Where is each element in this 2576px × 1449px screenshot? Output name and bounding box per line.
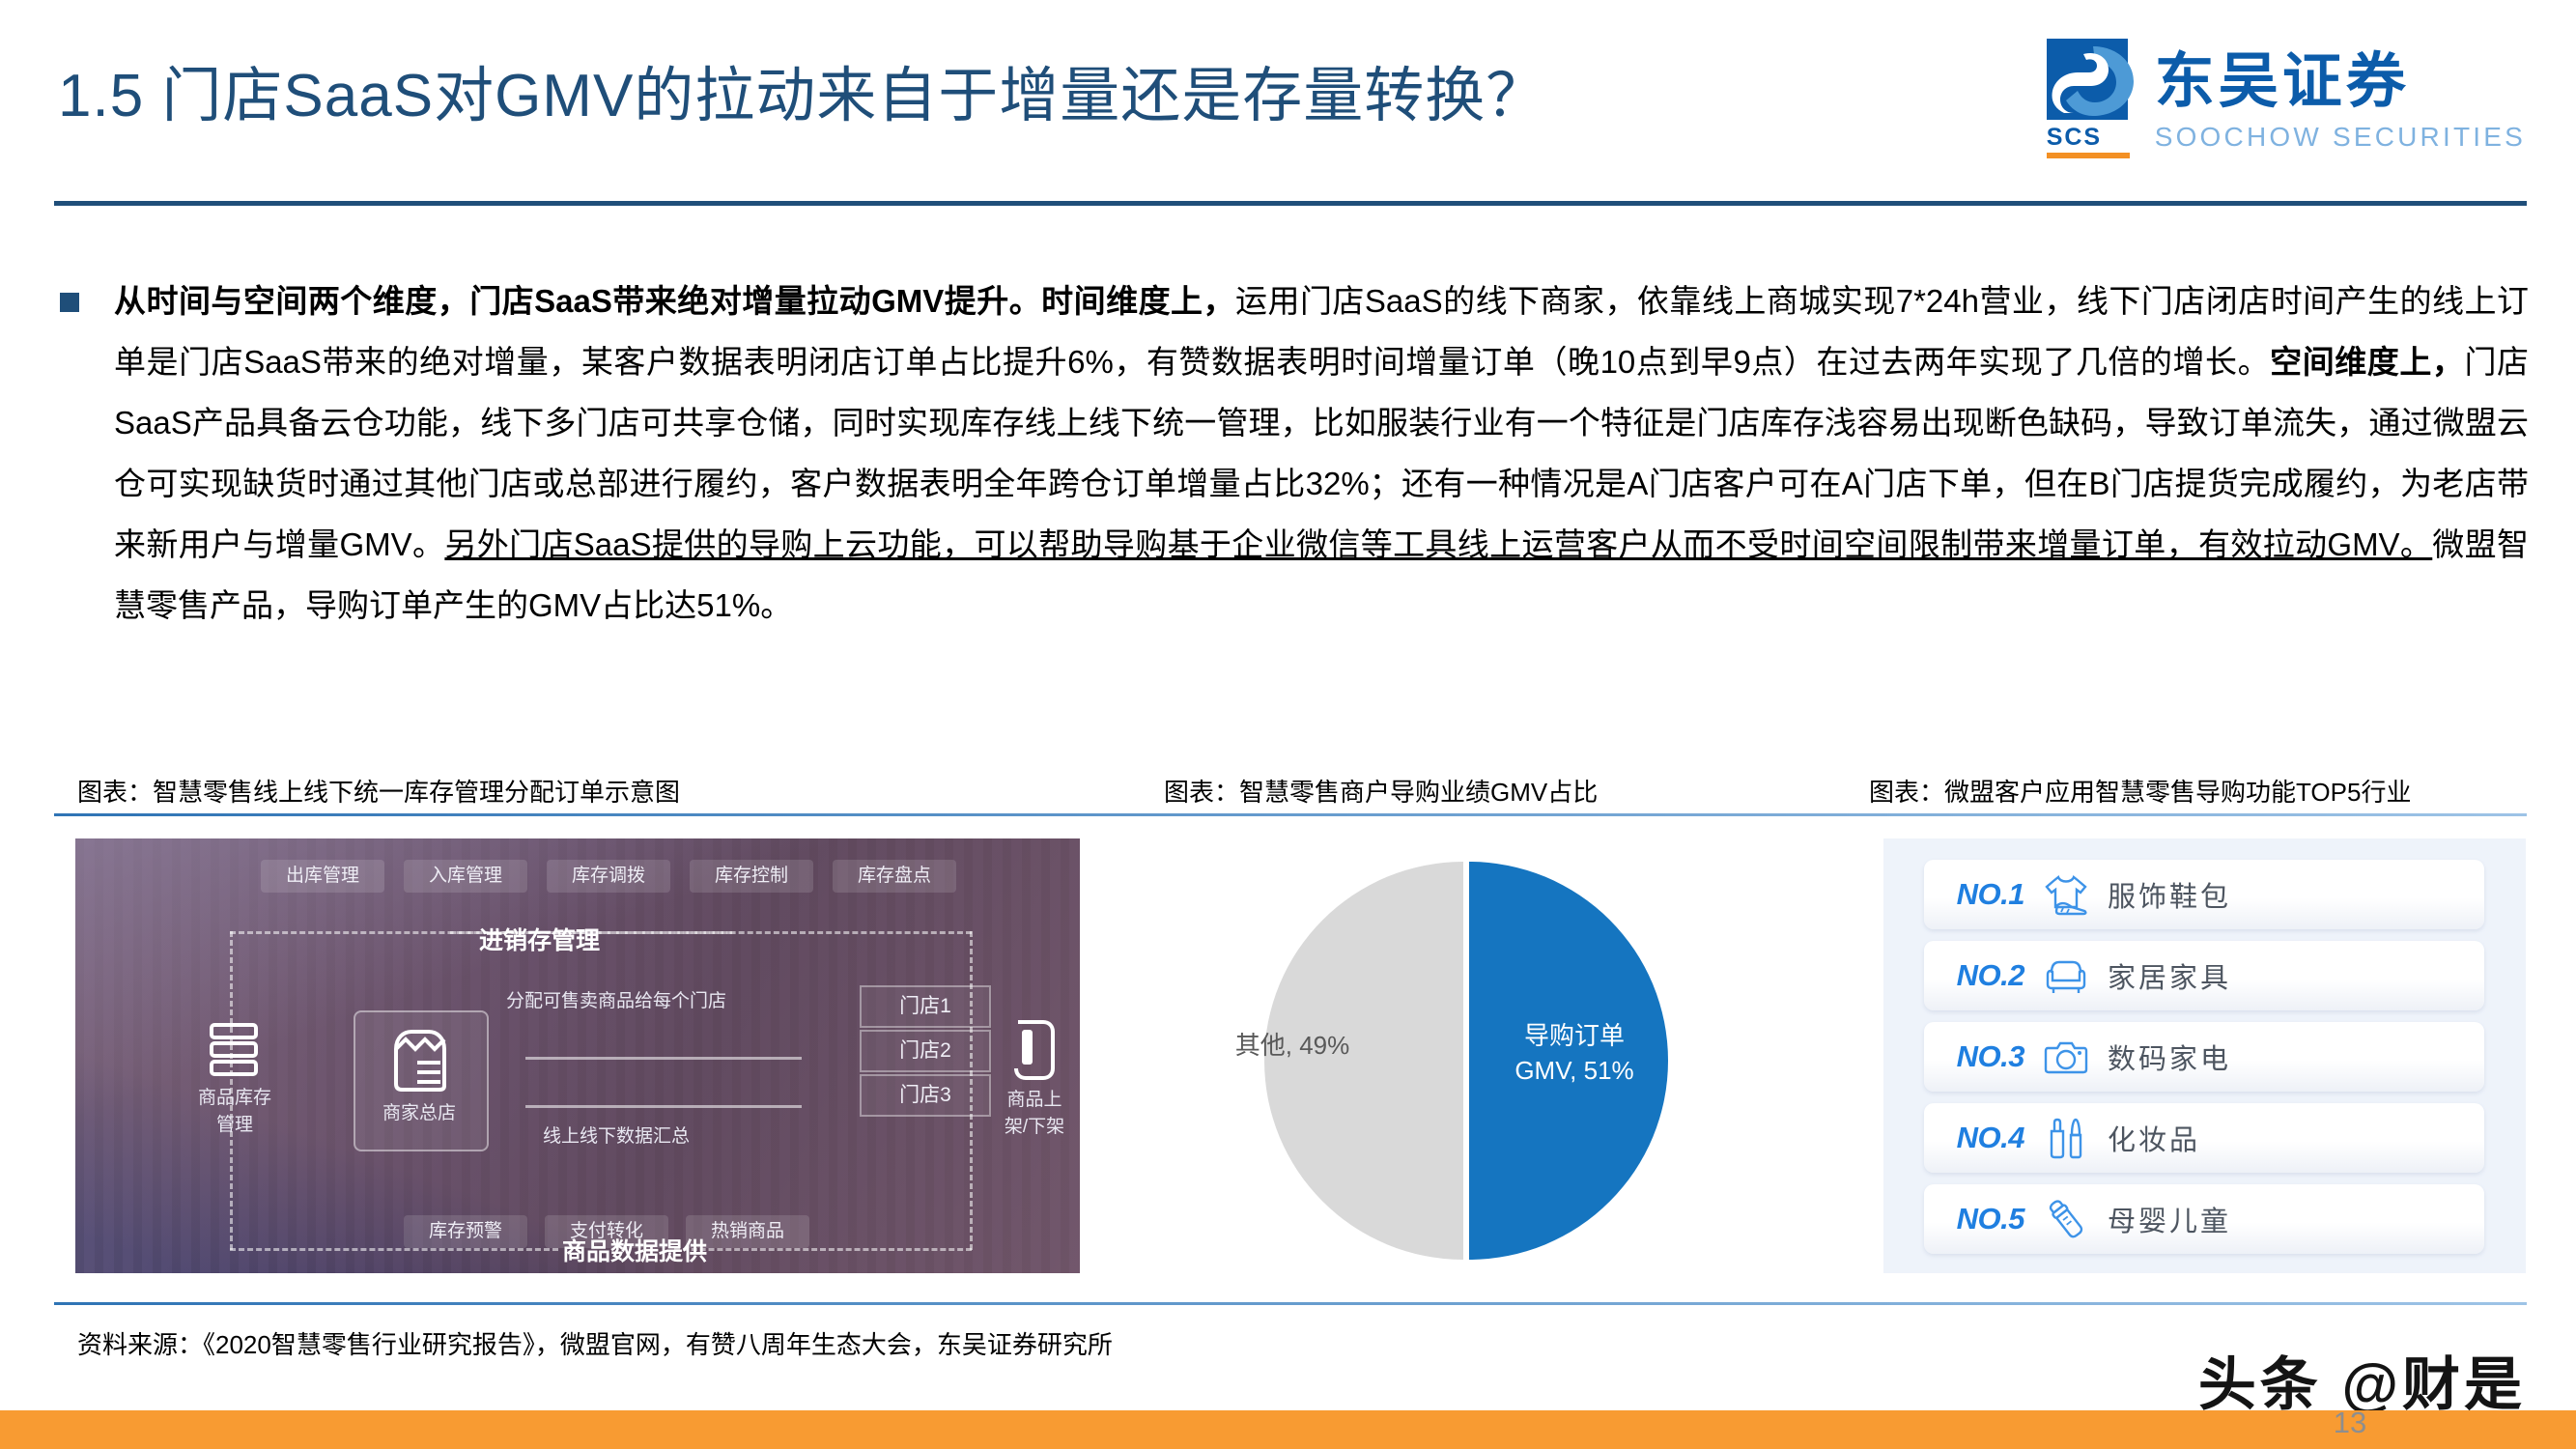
- top5-label-3: 数码家电: [2108, 1037, 2231, 1077]
- diagram-pill-hot-goods: 热销商品: [686, 1215, 809, 1248]
- top5-label-1: 服饰鞋包: [2108, 874, 2231, 915]
- logo-orange-bar: [2047, 153, 2130, 158]
- gmv-pie-chart: 其他, 49% 导购订单 GMV, 51%: [1149, 833, 1864, 1287]
- top5-industries-panel: NO.1 服饰鞋包 NO.2: [1883, 838, 2526, 1273]
- diagram-pill-inbound: 入库管理: [404, 860, 527, 893]
- logo-name-cn: 东吴证券: [2155, 52, 2526, 112]
- top5-row-5: NO.5 母婴儿童: [1924, 1184, 2484, 1254]
- top5-rank-2: NO.2: [1924, 958, 2024, 993]
- top5-rank-4: NO.4: [1924, 1121, 2024, 1155]
- diagram-store-2: 门店2: [860, 1030, 991, 1072]
- logo-wordmark: 东吴证券 SOOCHOW SECURITIES: [2155, 39, 2526, 153]
- pie-label-other: 其他, 49%: [1196, 1028, 1389, 1063]
- inventory-flow-diagram: 出库管理 入库管理 库存调拨 库存控制 库存盘点 进销存管理 商品库存 管理 商…: [75, 838, 1080, 1273]
- diagram-arrow-2: [525, 1105, 802, 1108]
- diagram-right-node-label-2: 架/下架: [981, 1115, 1080, 1140]
- top5-row-3: NO.3 数码家电: [1924, 1022, 2484, 1092]
- diagram-pill-stock-alert: 库存预警: [404, 1215, 527, 1248]
- logo-mark-icon: SCS: [2047, 39, 2139, 162]
- slide-root: 1.5 门店SaaS对GMV的拉动来自于增量还是存量转换？ SCS 东吴证券 S…: [0, 0, 2576, 1449]
- bullet-block: 从时间与空间两个维度，门店SaaS带来绝对增量拉动GMV提升。时间维度上，运用门…: [60, 270, 2529, 636]
- company-logo: SCS 东吴证券 SOOCHOW SECURITIES: [2047, 39, 2526, 164]
- diagram-store-1: 门店1: [860, 985, 991, 1028]
- chart-captions-row: 图表：智慧零售线上线下统一库存管理分配订单示意图 图表：智慧零售商户导购业绩GM…: [0, 773, 2576, 817]
- page-title: 1.5 门店SaaS对GMV的拉动来自于增量还是存量转换？: [58, 46, 1546, 133]
- header-divider: [54, 201, 2527, 206]
- logo-name-en: SOOCHOW SECURITIES: [2155, 122, 2526, 153]
- top5-list: NO.1 服饰鞋包 NO.2: [1924, 860, 2484, 1265]
- diagram-center-title: 进销存管理: [479, 922, 600, 956]
- top5-label-5: 母婴儿童: [2108, 1199, 2231, 1239]
- cosmetics-icon: [2024, 1116, 2108, 1160]
- bullet-square-icon: [60, 293, 79, 312]
- diagram-allocate-label: 分配可售卖商品给每个门店: [462, 989, 771, 1014]
- camera-icon: [2024, 1035, 2108, 1079]
- diagram-pill-pay-conversion: 支付转化: [545, 1215, 668, 1248]
- pie-label-guide: 导购订单 GMV, 51%: [1478, 1018, 1671, 1088]
- body-paragraph: 从时间与空间两个维度，门店SaaS带来绝对增量拉动GMV提升。时间维度上，运用门…: [60, 270, 2529, 636]
- captions-divider: [54, 813, 2527, 816]
- diagram-merchant-label: 商家总店: [354, 1101, 485, 1126]
- slide-header: 1.5 门店SaaS对GMV的拉动来自于增量还是存量转换？ SCS 东吴证券 S…: [0, 0, 2576, 205]
- diagram-dashed-bottom-right: [674, 1248, 972, 1251]
- diagram-arrow-1: [525, 1057, 802, 1060]
- top5-row-2: NO.2 家居家具: [1924, 941, 2484, 1010]
- caption-chart-1: 图表：智慧零售线上线下统一库存管理分配订单示意图: [77, 773, 680, 809]
- top5-label-4: 化妆品: [2108, 1118, 2200, 1158]
- tshirt-shoe-icon: [2024, 872, 2108, 917]
- top5-rank-1: NO.1: [1924, 877, 2024, 912]
- pie-label-guide-line2: GMV, 51%: [1478, 1053, 1671, 1088]
- top5-label-2: 家居家具: [2108, 955, 2231, 996]
- pie-figure: 其他, 49% 导购订单 GMV, 51%: [1256, 848, 1671, 1273]
- top5-row-4: NO.4 化妆品: [1924, 1103, 2484, 1173]
- diagram-right-node-label-1: 商品上: [981, 1088, 1080, 1113]
- stack-icon: [209, 1022, 259, 1078]
- diagram-dashed-bottom-left: [230, 1248, 558, 1251]
- store-doc-icon: [390, 1026, 450, 1094]
- top5-rank-3: NO.3: [1924, 1039, 2024, 1074]
- source-divider: [54, 1302, 2527, 1305]
- diagram-store-3: 门店3: [860, 1074, 991, 1117]
- logo-scs-text: SCS: [2047, 126, 2130, 150]
- diagram-summary-label: 线上线下数据汇总: [462, 1124, 771, 1150]
- pie-label-guide-line1: 导购订单: [1478, 1018, 1671, 1053]
- source-note: 资料来源：《2020智慧零售行业研究报告》，微盟官网，有赞八周年生态大会，东吴证…: [77, 1325, 1113, 1361]
- body-bold-2: 空间维度上，: [2270, 344, 2464, 380]
- top5-row-1: NO.1 服饰鞋包: [1924, 860, 2484, 929]
- diagram-left-node-label-1: 商品库存: [172, 1086, 297, 1111]
- diagram-pill-stocktake: 库存盘点: [833, 860, 956, 893]
- diagram-pill-control: 库存控制: [690, 860, 813, 893]
- logo-swirl-icon: [2049, 41, 2137, 122]
- top5-rank-5: NO.5: [1924, 1202, 2024, 1236]
- diagram-left-node-label-2: 管理: [172, 1113, 297, 1138]
- body-lead-bold: 从时间与空间两个维度，门店SaaS带来绝对增量拉动GMV提升。时间维度上，: [114, 283, 1235, 319]
- footer-bar: [0, 1410, 2576, 1449]
- diagram-pill-transfer: 库存调拨: [547, 860, 670, 893]
- caption-chart-3: 图表：微盟客户应用智慧零售导购功能TOP5行业: [1869, 773, 2411, 809]
- diagram-pill-outbound: 出库管理: [261, 860, 384, 893]
- page-number: 13: [2316, 1406, 2384, 1440]
- caption-chart-2: 图表：智慧零售商户导购业绩GMV占比: [1164, 773, 1598, 809]
- shelf-icon: [1010, 1018, 1059, 1082]
- sofa-icon: [2024, 953, 2108, 998]
- body-underline-seg: 另外门店SaaS提供的导购上云功能，可以帮助导购基于企业微信等工具线上运营客户从…: [444, 526, 2432, 562]
- baby-bottle-icon: [2024, 1197, 2108, 1241]
